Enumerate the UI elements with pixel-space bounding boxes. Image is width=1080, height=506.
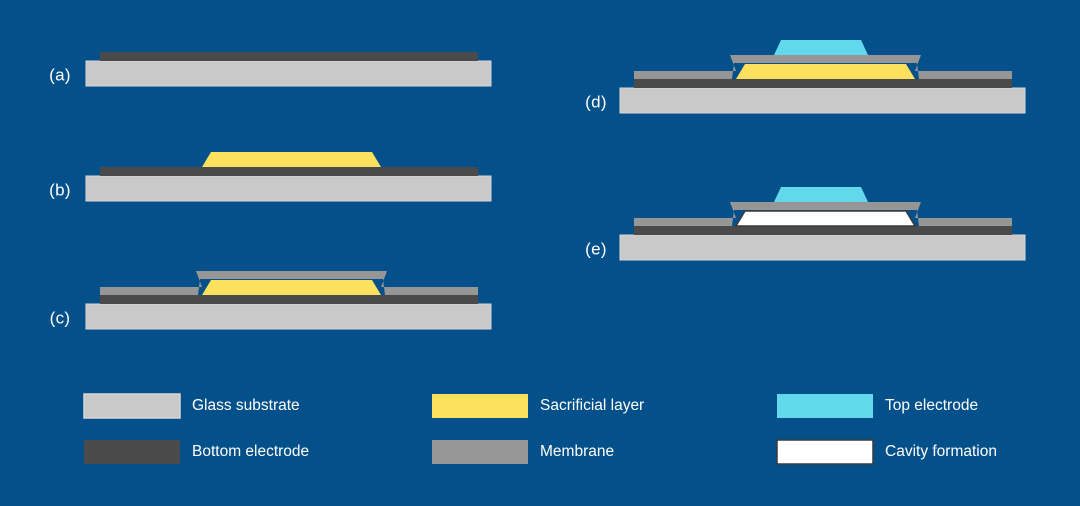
legend-item-glass-substrate: Glass substrate — [84, 394, 300, 418]
bottom-electrode-layer — [100, 167, 478, 176]
glass-substrate-layer — [620, 88, 1025, 113]
legend-swatch-glass-substrate — [84, 394, 180, 418]
glass-substrate-layer — [86, 176, 491, 201]
panel-label-c: (c) — [50, 308, 71, 327]
legend-label-membrane: Membrane — [540, 443, 614, 460]
panel-label-b: (b) — [49, 180, 71, 199]
legend-swatch-bottom-electrode — [84, 440, 180, 464]
glass-substrate-layer — [86, 304, 491, 329]
bottom-electrode-layer — [634, 226, 1012, 235]
process-flow-figure: (a)(b)(c)(d)(e)Glass substrateBottom ele… — [0, 0, 1080, 506]
bottom-electrode-layer — [634, 79, 1012, 88]
legend-label-bottom-electrode: Bottom electrode — [192, 443, 309, 460]
legend-label-cavity-formation: Cavity formation — [885, 443, 997, 460]
legend-item-membrane: Membrane — [432, 440, 614, 464]
legend: Glass substrateBottom electrodeSacrifici… — [84, 394, 997, 464]
panel-label-e: (e) — [585, 239, 607, 258]
cavity-shape — [736, 211, 915, 226]
panel-c: (c) — [50, 271, 491, 329]
legend-swatch-membrane — [432, 440, 528, 464]
panel-label-a: (a) — [49, 65, 71, 84]
legend-label-sacrificial-layer: Sacrificial layer — [540, 397, 644, 414]
panel-label-d: (d) — [585, 92, 607, 111]
sacrificial-layer-shape — [202, 280, 381, 295]
top-electrode-shape — [774, 187, 868, 202]
glass-substrate-layer — [620, 235, 1025, 260]
legend-swatch-top-electrode — [777, 394, 873, 418]
panel-e: (e) — [585, 187, 1025, 260]
legend-item-top-electrode: Top electrode — [777, 394, 978, 418]
legend-item-sacrificial-layer: Sacrificial layer — [432, 394, 644, 418]
top-electrode-shape — [774, 40, 868, 55]
legend-label-top-electrode: Top electrode — [885, 397, 978, 414]
sacrificial-layer-shape — [202, 152, 381, 167]
glass-substrate-layer — [86, 61, 491, 86]
process-flow-diagram: (a)(b)(c)(d)(e)Glass substrateBottom ele… — [0, 0, 1080, 506]
legend-swatch-cavity-formation — [777, 440, 873, 464]
legend-item-bottom-electrode: Bottom electrode — [84, 440, 309, 464]
legend-label-glass-substrate: Glass substrate — [192, 397, 300, 414]
bottom-electrode-layer — [100, 295, 478, 304]
legend-item-cavity-formation: Cavity formation — [777, 440, 997, 464]
sacrificial-layer-shape — [736, 64, 915, 79]
panel-d: (d) — [585, 40, 1025, 113]
legend-swatch-sacrificial-layer — [432, 394, 528, 418]
panel-b: (b) — [49, 152, 491, 201]
bottom-electrode-layer — [100, 52, 478, 61]
panel-a: (a) — [49, 52, 491, 86]
